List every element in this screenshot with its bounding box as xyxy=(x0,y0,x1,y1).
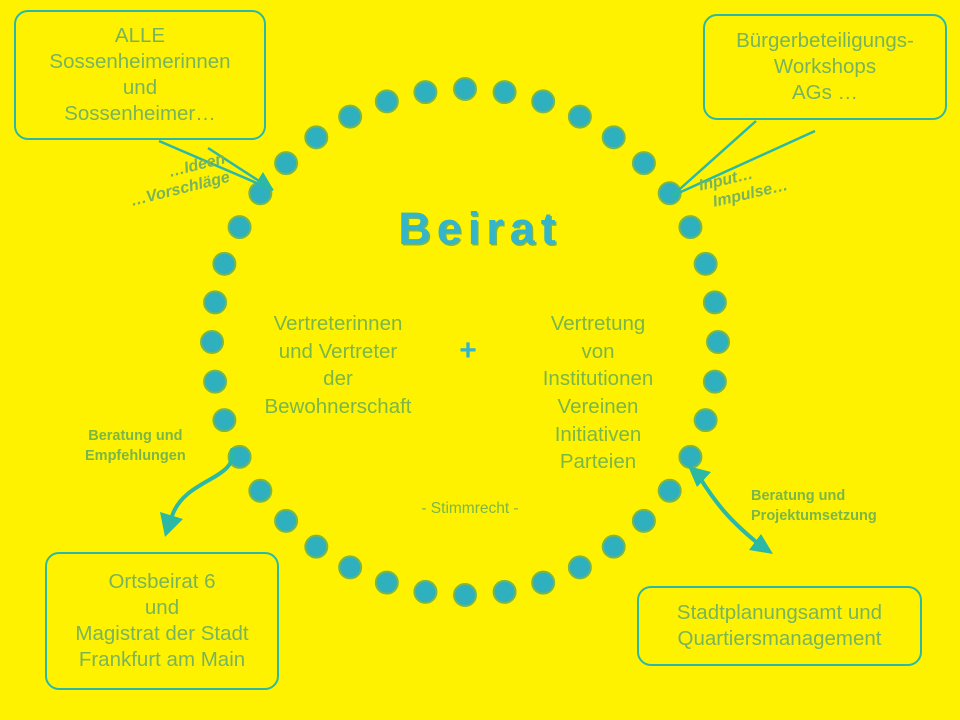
callout-ortsbeirat-magistrat[interactable]: Ortsbeirat 6 und Magistrat der Stadt Fra… xyxy=(45,552,279,690)
label-ideen-vorschlaege: …Ideen …Vorschläge xyxy=(124,149,232,211)
label-beratung-projekt-line2: Projektumsetzung xyxy=(751,507,877,527)
label-beratung-empfehlungen-line1: Beratung und xyxy=(85,427,186,447)
ring-dot xyxy=(569,556,591,578)
ring-dot xyxy=(603,126,625,148)
ring-dot xyxy=(305,126,327,148)
ring-dot xyxy=(532,572,554,594)
center-right-column: Vertretung von Institutionen Vereinen In… xyxy=(508,310,688,476)
ring-dot xyxy=(305,536,327,558)
ring-dot xyxy=(454,78,476,100)
center-left-column-text: Vertreterinnen und Vertreter der Bewohne… xyxy=(264,312,411,418)
stimmrecht-footnote: - Stimmrecht - xyxy=(330,500,610,518)
label-beratung-und-empfehlungen: Beratung und Empfehlungen xyxy=(85,427,186,466)
center-composition: Vertreterinnen und Vertreter der Bewohne… xyxy=(248,310,688,476)
label-beratung-empfehlungen-line2: Empfehlungen xyxy=(85,447,186,467)
ring-dot xyxy=(569,106,591,128)
ring-dot xyxy=(704,371,726,393)
diagram-title: Beirat xyxy=(0,203,960,255)
label-beratung-projekt-line1: Beratung und xyxy=(751,487,877,507)
ring-dot xyxy=(275,152,297,174)
center-right-column-text: Vertretung von Institutionen Vereinen In… xyxy=(543,312,654,473)
ring-dot xyxy=(376,90,398,112)
ring-dot xyxy=(376,572,398,594)
ring-dot xyxy=(494,81,516,103)
ring-dot xyxy=(532,90,554,112)
ring-dot xyxy=(695,409,717,431)
ring-dot xyxy=(213,253,235,275)
ring-dot xyxy=(213,409,235,431)
ring-dot xyxy=(414,81,436,103)
diagram-canvas: ALLE Sossenheimerinnen und Sossenheimer…… xyxy=(0,0,960,720)
ring-dot xyxy=(204,291,226,313)
ring-dot xyxy=(339,106,361,128)
plus-icon: + xyxy=(448,336,488,366)
arrow-beratung-projektumsetzung xyxy=(700,478,755,541)
callout-all-citizens-text: ALLE Sossenheimerinnen und Sossenheimer… xyxy=(16,23,264,128)
ring-dot xyxy=(249,182,271,204)
ring-dot xyxy=(633,152,655,174)
callout-tail-citizens-arrowhead xyxy=(258,173,273,190)
ring-dot xyxy=(704,291,726,313)
ring-dot xyxy=(204,371,226,393)
ring-dot xyxy=(339,556,361,578)
ring-dot xyxy=(659,480,681,502)
callout-stadtplanungsamt-quartiersmanagement-text: Stadtplanungsamt und Quartiersmanagement xyxy=(639,600,920,652)
callout-ortsbeirat-magistrat-text: Ortsbeirat 6 und Magistrat der Stadt Fra… xyxy=(47,569,277,674)
label-beratung-und-projektumsetzung: Beratung und Projektumsetzung xyxy=(751,487,877,526)
ring-dot xyxy=(275,510,297,532)
center-left-column: Vertreterinnen und Vertreter der Bewohne… xyxy=(248,310,428,421)
arrow-beratung-empfehlungen-head xyxy=(160,512,183,537)
ring-dot xyxy=(707,331,729,353)
ring-dot xyxy=(494,581,516,603)
ring-dot xyxy=(201,331,223,353)
ring-dot xyxy=(414,581,436,603)
callout-participation-workshops-text: Bürgerbeteiligungs- Workshops AGs … xyxy=(705,28,945,107)
ring-dot xyxy=(454,584,476,606)
callout-stadtplanungsamt-quartiersmanagement[interactable]: Stadtplanungsamt und Quartiersmanagement xyxy=(637,586,922,666)
arrow-beratung-projektumsetzung-head-up xyxy=(688,466,711,487)
callout-all-citizens[interactable]: ALLE Sossenheimerinnen und Sossenheimer… xyxy=(14,10,266,140)
callout-participation-workshops[interactable]: Bürgerbeteiligungs- Workshops AGs … xyxy=(703,14,947,120)
ring-dot xyxy=(695,253,717,275)
ring-dot xyxy=(249,480,271,502)
arrow-beratung-projektumsetzung-head-down xyxy=(749,534,773,554)
ring-dot xyxy=(633,510,655,532)
ring-dot xyxy=(659,182,681,204)
ring-dot xyxy=(603,536,625,558)
